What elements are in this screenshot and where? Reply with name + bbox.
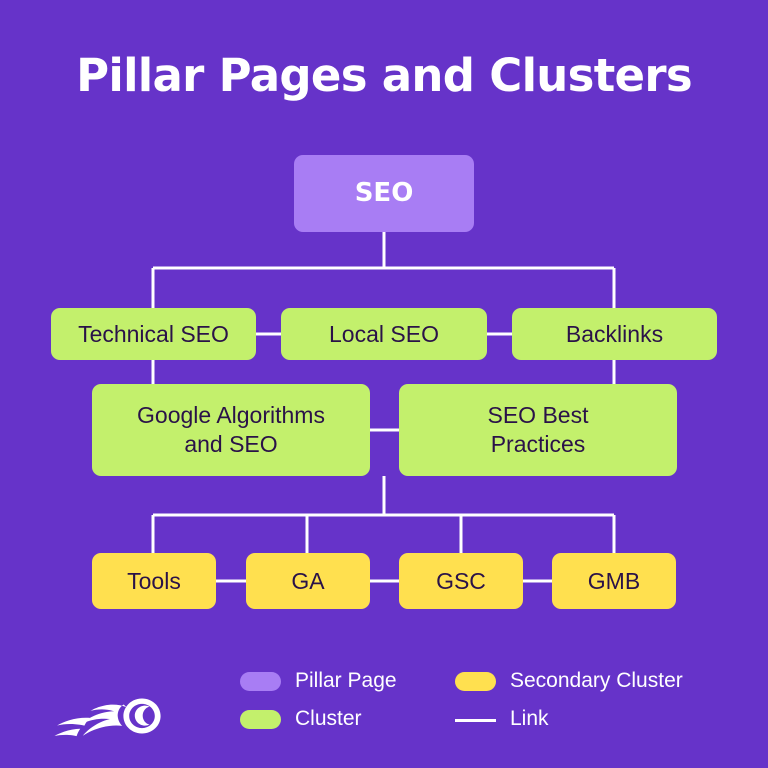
legend-item-cluster: Cluster xyxy=(240,700,455,738)
node-gmb[interactable]: GMB xyxy=(552,553,676,609)
node-label: SEO xyxy=(355,179,414,208)
legend-item-link: Link xyxy=(455,700,730,738)
node-label-line2: Practices xyxy=(491,430,586,459)
node-label: Technical SEO xyxy=(78,320,229,349)
legend-swatch-pillar-icon xyxy=(240,672,281,691)
node-seo-best-practices[interactable]: SEO Best Practices xyxy=(399,384,677,476)
node-label-line1: Google Algorithms xyxy=(137,401,325,430)
legend-label: Cluster xyxy=(295,707,362,731)
node-tools[interactable]: Tools xyxy=(92,553,216,609)
legend-item-secondary-cluster: Secondary Cluster xyxy=(455,662,730,700)
node-label: GSC xyxy=(436,567,486,596)
legend-swatch-cluster-icon xyxy=(240,710,281,729)
legend-label: Pillar Page xyxy=(295,669,397,693)
legend-swatch-secondary-icon xyxy=(455,672,496,691)
flaming-comet-logo-icon xyxy=(50,692,170,740)
node-google-algorithms-and-seo[interactable]: Google Algorithms and SEO xyxy=(92,384,370,476)
diagram-canvas: Pillar Pages and Clusters xyxy=(0,0,768,768)
legend-item-pillar-page: Pillar Page xyxy=(240,662,455,700)
node-label: GA xyxy=(291,567,324,596)
legend-swatch-link-line-icon xyxy=(455,710,496,729)
node-backlinks[interactable]: Backlinks xyxy=(512,308,717,360)
node-label: Tools xyxy=(127,567,181,596)
node-seo[interactable]: SEO xyxy=(294,155,474,232)
node-gsc[interactable]: GSC xyxy=(399,553,523,609)
node-label: Backlinks xyxy=(566,320,663,349)
node-label: GMB xyxy=(588,567,640,596)
node-technical-seo[interactable]: Technical SEO xyxy=(51,308,256,360)
node-label: Local SEO xyxy=(329,320,439,349)
node-local-seo[interactable]: Local SEO xyxy=(281,308,487,360)
node-ga[interactable]: GA xyxy=(246,553,370,609)
node-label-line2: and SEO xyxy=(184,430,277,459)
legend-label: Link xyxy=(510,707,549,731)
legend: Pillar Page Secondary Cluster Cluster Li… xyxy=(240,662,730,738)
node-label-line1: SEO Best xyxy=(488,401,589,430)
legend-label: Secondary Cluster xyxy=(510,669,683,693)
